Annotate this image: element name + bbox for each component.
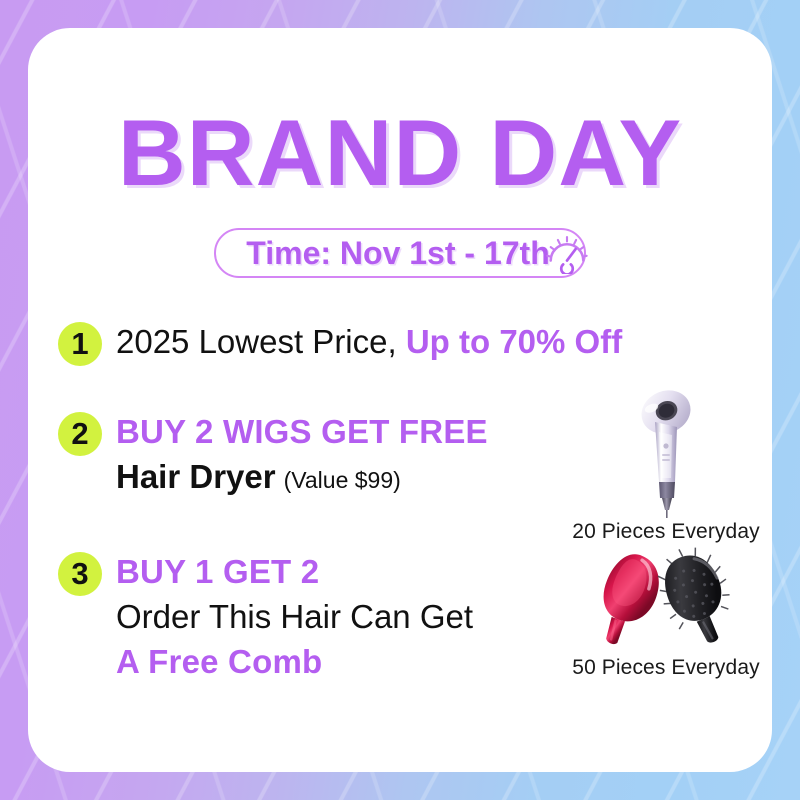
offer-item-3: 3 BUY 1 GET 2 Order This Hair Can Get A …	[58, 550, 578, 684]
time-banner-wrap: Time: Nov 1st - 17th	[28, 228, 772, 278]
hair-dryer-image	[548, 386, 784, 518]
offer-text-2: BUY 2 WIGS GET FREE Hair Dryer(Value $99…	[116, 410, 488, 500]
offer-text-1: 2025 Lowest Price, Up to 70% Off	[116, 320, 622, 364]
promo-poster: BRAND DAY Time: Nov 1st - 17th	[0, 0, 800, 800]
time-banner-label: Time: Nov 1st - 17th	[246, 235, 549, 272]
offer-badge-3: 3	[58, 552, 102, 596]
hair-dryer-icon	[606, 386, 726, 518]
offer-line-plain: 2025 Lowest Price,	[116, 323, 406, 360]
offer-line-product: Hair Dryer	[116, 458, 276, 495]
offer-item-1: 1 2025 Lowest Price, Up to 70% Off	[58, 320, 578, 366]
hair-combs-icon	[581, 546, 751, 654]
offer-line-3-3: A Free Comb	[116, 640, 473, 684]
offer-line-3-1: BUY 1 GET 2	[116, 550, 473, 594]
offer-line-3-2: Order This Hair Can Get	[116, 594, 473, 640]
product-hair-dryer: 20 Pieces Everyday	[548, 386, 784, 544]
offer-badge-1: 1	[58, 322, 102, 366]
offer-line-2-1: BUY 2 WIGS GET FREE	[116, 410, 488, 454]
speedometer-icon	[544, 228, 590, 274]
offer-badge-2: 2	[58, 412, 102, 456]
offer-text-3: BUY 1 GET 2 Order This Hair Can Get A Fr…	[116, 550, 473, 684]
offer-item-2: 2 BUY 2 WIGS GET FREE Hair Dryer(Value $…	[58, 410, 578, 500]
offer-line-1-1: 2025 Lowest Price, Up to 70% Off	[116, 320, 622, 364]
offer-value-note: (Value $99)	[284, 467, 401, 493]
product-hair-combs: 50 Pieces Everyday	[548, 546, 784, 680]
offer-line-2-2: Hair Dryer(Value $99)	[116, 454, 488, 500]
hair-dryer-caption: 20 Pieces Everyday	[548, 520, 784, 544]
hair-combs-caption: 50 Pieces Everyday	[548, 656, 784, 680]
promo-card: BRAND DAY Time: Nov 1st - 17th	[28, 28, 772, 772]
page-title: BRAND DAY	[28, 106, 772, 200]
offer-list: 1 2025 Lowest Price, Up to 70% Off 2 BUY…	[58, 320, 578, 684]
hair-combs-image	[548, 546, 784, 654]
time-banner: Time: Nov 1st - 17th	[214, 228, 585, 278]
offer-line-accent: Up to 70% Off	[406, 323, 622, 360]
